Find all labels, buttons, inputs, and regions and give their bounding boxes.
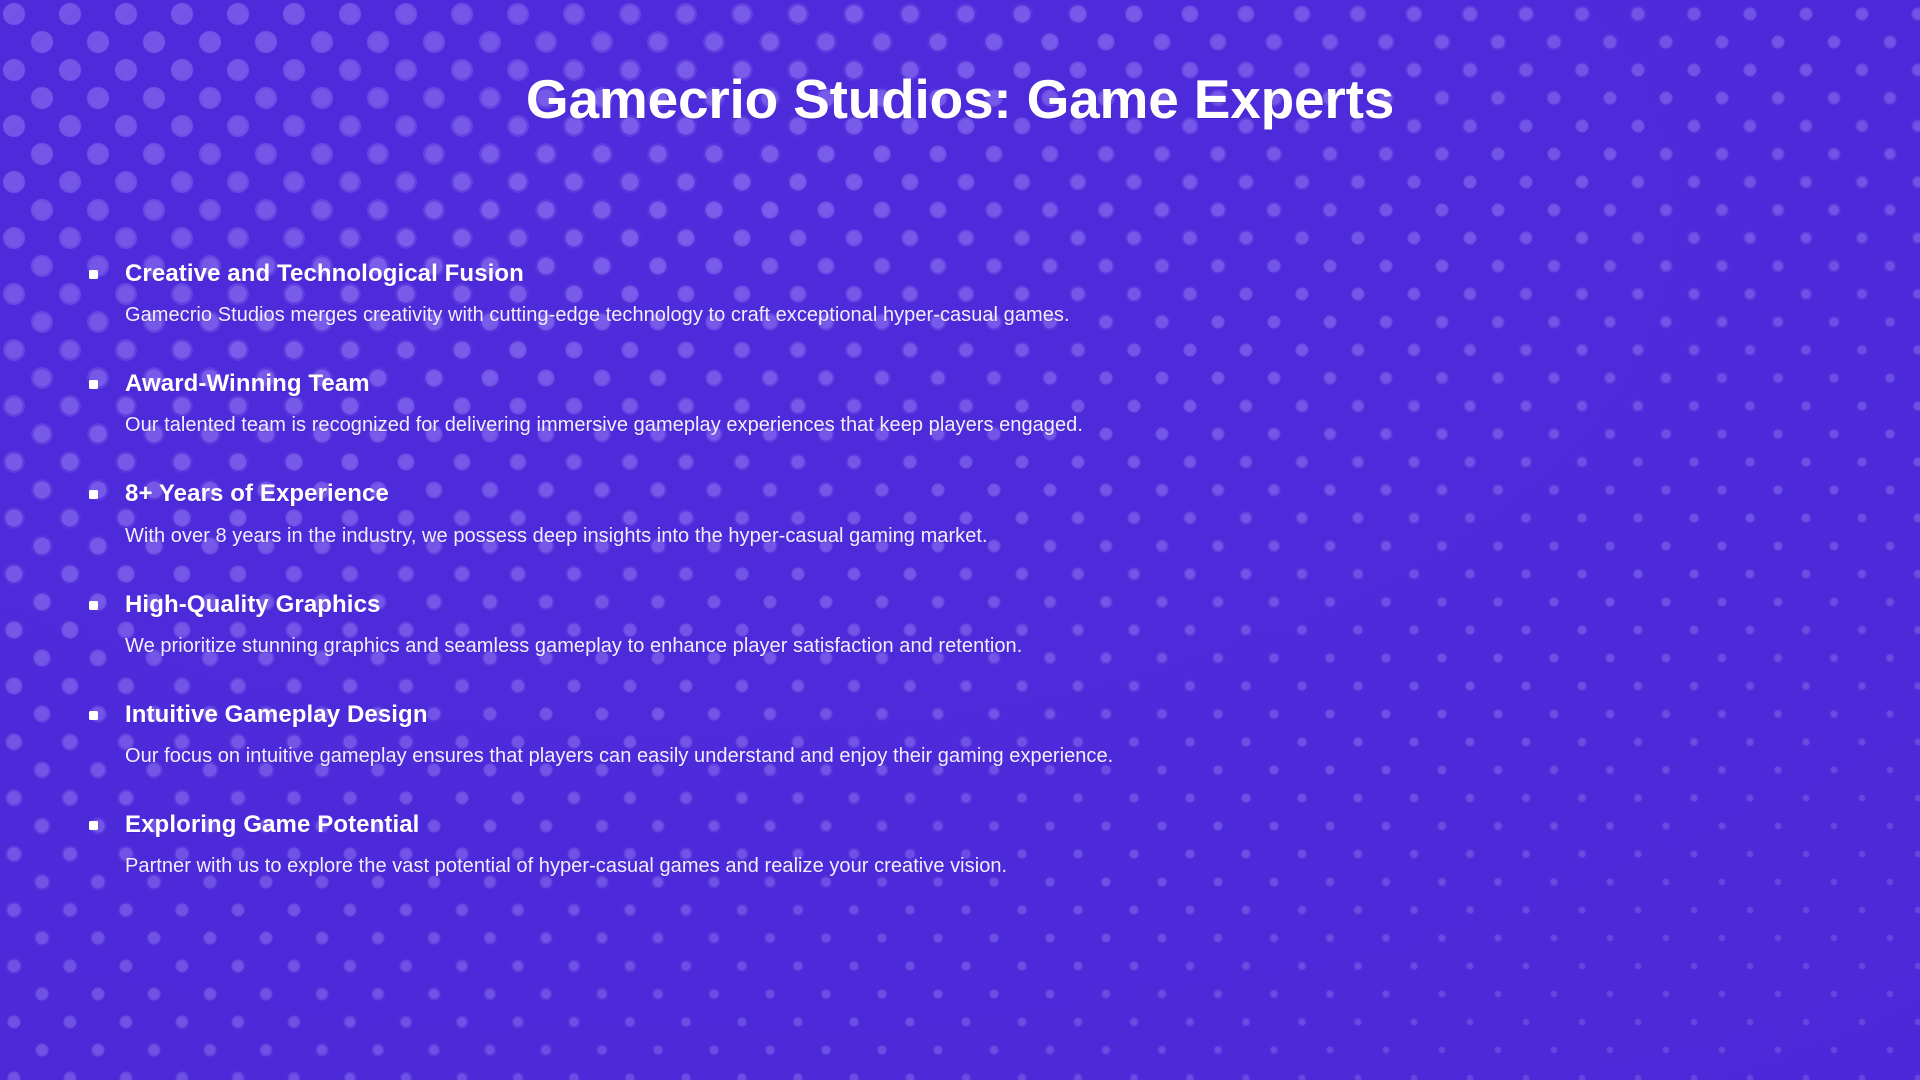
presentation-slide: Gamecrio Studios: Game Experts Creative … <box>0 0 1920 1080</box>
list-item: Creative and Technological Fusion Gamecr… <box>86 258 1726 329</box>
list-item: Intuitive Gameplay Design Our focus on i… <box>86 699 1726 770</box>
bullet-body: With over 8 years in the industry, we po… <box>125 523 1726 550</box>
bullet-body: Gamecrio Studios merges creativity with … <box>125 302 1726 329</box>
list-item: 8+ Years of Experience With over 8 years… <box>86 478 1726 549</box>
list-item: High-Quality Graphics We prioritize stun… <box>86 589 1726 660</box>
bullet-heading: 8+ Years of Experience <box>125 478 1726 509</box>
square-bullet-icon <box>89 601 98 610</box>
bullet-list: Creative and Technological Fusion Gamecr… <box>86 258 1726 880</box>
bullet-heading: Creative and Technological Fusion <box>125 258 1726 289</box>
bullet-body: We prioritize stunning graphics and seam… <box>125 633 1726 660</box>
bullet-heading: Intuitive Gameplay Design <box>125 699 1726 730</box>
square-bullet-icon <box>89 270 98 279</box>
list-item: Exploring Game Potential Partner with us… <box>86 809 1726 880</box>
square-bullet-icon <box>89 490 98 499</box>
bullet-body: Our talented team is recognized for deli… <box>125 412 1726 439</box>
bullet-heading: Exploring Game Potential <box>125 809 1726 840</box>
bullet-heading: High-Quality Graphics <box>125 589 1726 620</box>
slide-content: Gamecrio Studios: Game Experts Creative … <box>0 0 1920 1080</box>
slide-title: Gamecrio Studios: Game Experts <box>0 68 1920 131</box>
square-bullet-icon <box>89 380 98 389</box>
square-bullet-icon <box>89 821 98 830</box>
square-bullet-icon <box>89 711 98 720</box>
bullet-body: Partner with us to explore the vast pote… <box>125 853 1726 880</box>
bullet-heading: Award-Winning Team <box>125 368 1726 399</box>
list-item: Award-Winning Team Our talented team is … <box>86 368 1726 439</box>
bullet-body: Our focus on intuitive gameplay ensures … <box>125 743 1726 770</box>
